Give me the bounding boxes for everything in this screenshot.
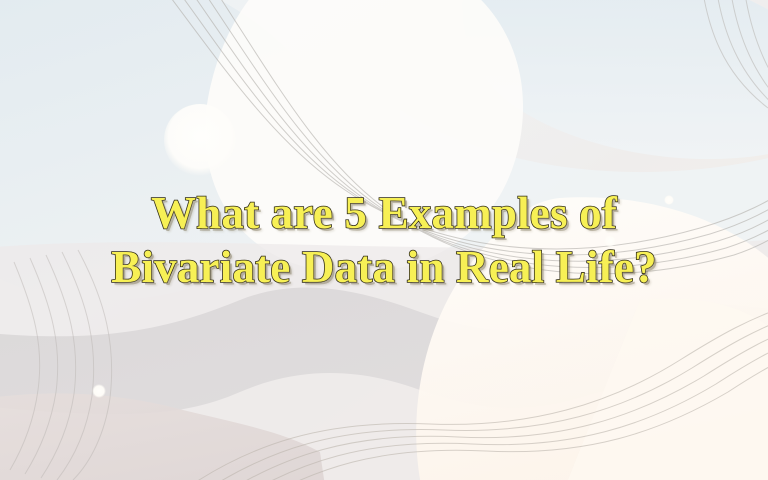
dot-accent-left	[92, 384, 106, 398]
featured-image-banner: What are 5 Examples of Bivariate Data in…	[0, 0, 768, 480]
background-artwork	[0, 0, 768, 480]
dot-accent-right-upper	[664, 195, 674, 205]
circle-accent-large	[164, 104, 236, 176]
dot-accent-right-lower	[604, 235, 616, 247]
